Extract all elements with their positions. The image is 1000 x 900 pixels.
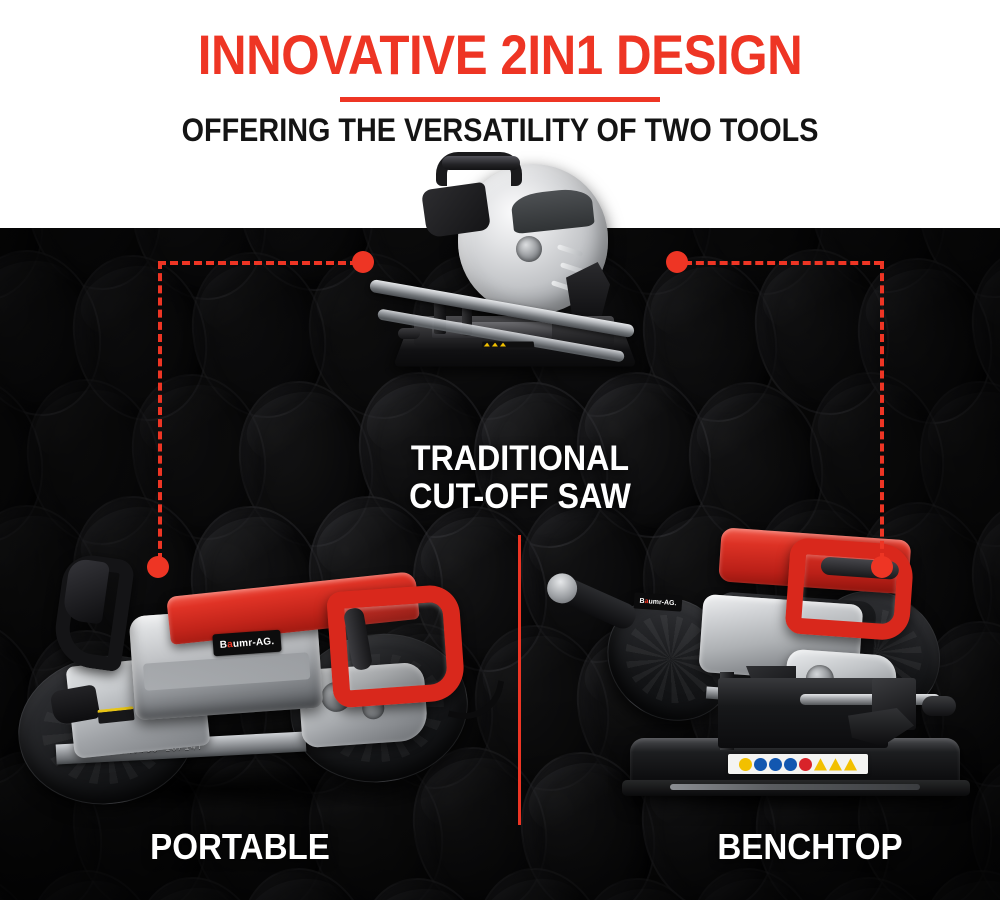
page-subtitle: OFFERING THE VERSATILITY OF TWO TOOLS <box>50 112 950 149</box>
brand-badge-suffix: umr-AG. <box>648 598 676 607</box>
page-title: INNOVATIVE 2IN1 DESIGN <box>60 26 940 85</box>
benchtop-base-slot <box>670 784 920 790</box>
brand-badge-text: Baumr-AG. <box>219 636 274 651</box>
portable-power-cord <box>448 672 505 727</box>
caption-center-line2: CUT-OFF SAW <box>382 478 658 516</box>
ear-protection-icon <box>769 758 782 771</box>
connector-dashed-line-right-vertical <box>880 261 884 561</box>
benchtop-vise-screw <box>800 694 940 705</box>
cutting-hazard-icon <box>844 758 857 771</box>
caption-center: TRADITIONAL CUT-OFF SAW <box>382 440 658 516</box>
read-manual-icon <box>739 758 752 771</box>
cutoff-motor-housing <box>421 182 491 238</box>
general-warning-icon <box>814 758 827 771</box>
brand-badge-suffix: umr-AG. <box>233 636 275 650</box>
product-image-cut-off-saw <box>370 150 660 400</box>
brand-badge-text: Baumr-AG. <box>639 597 676 607</box>
benchtop-pivot-lever[interactable] <box>550 574 639 633</box>
no-gloves-prohibited-icon <box>799 758 812 771</box>
electric-hazard-icon <box>829 758 842 771</box>
caption-portable: PORTABLE <box>102 826 378 868</box>
portable-rear-handle <box>326 584 466 709</box>
poster-canvas: INNOVATIVE 2IN1 DESIGN OFFERING THE VERS… <box>0 0 1000 900</box>
benchtop-safety-sticker <box>728 754 868 774</box>
benchtop-vise-knob[interactable] <box>922 696 956 716</box>
connector-dot-bottom-right <box>871 556 893 578</box>
benchtop-brand-badge: Baumr-AG. <box>634 592 683 611</box>
cutoff-handle-grip <box>442 156 520 170</box>
warning-triangle-icon <box>500 343 506 347</box>
connector-dashed-line-left-vertical <box>158 261 162 561</box>
warning-triangle-icon <box>492 343 498 347</box>
center-vertical-divider <box>518 535 521 825</box>
portable-brand-badge: Baumr-AG. <box>212 630 281 657</box>
connector-dot-top-left <box>352 251 374 273</box>
connector-dot-top-right <box>666 251 688 273</box>
cutoff-warning-sticker <box>482 342 535 348</box>
cutoff-clamp-knob <box>398 328 420 339</box>
benchtop-rear-handle <box>784 537 914 641</box>
product-image-portable-band-saw: 13x0.65 10/14T <box>0 548 500 820</box>
cutoff-guard-fin <box>557 244 583 257</box>
cutoff-arbor-hub <box>516 236 542 262</box>
connector-dashed-line-right-horizontal <box>684 261 882 265</box>
eye-protection-icon <box>754 758 767 771</box>
warning-triangle-icon <box>484 343 490 347</box>
dust-mask-icon <box>784 758 797 771</box>
caption-center-line1: TRADITIONAL <box>382 440 658 478</box>
caption-benchtop: BENCHTOP <box>672 826 948 868</box>
connector-dot-bottom-left <box>147 556 169 578</box>
connector-dashed-line-left-horizontal <box>158 261 358 265</box>
title-divider-rule <box>340 97 660 102</box>
